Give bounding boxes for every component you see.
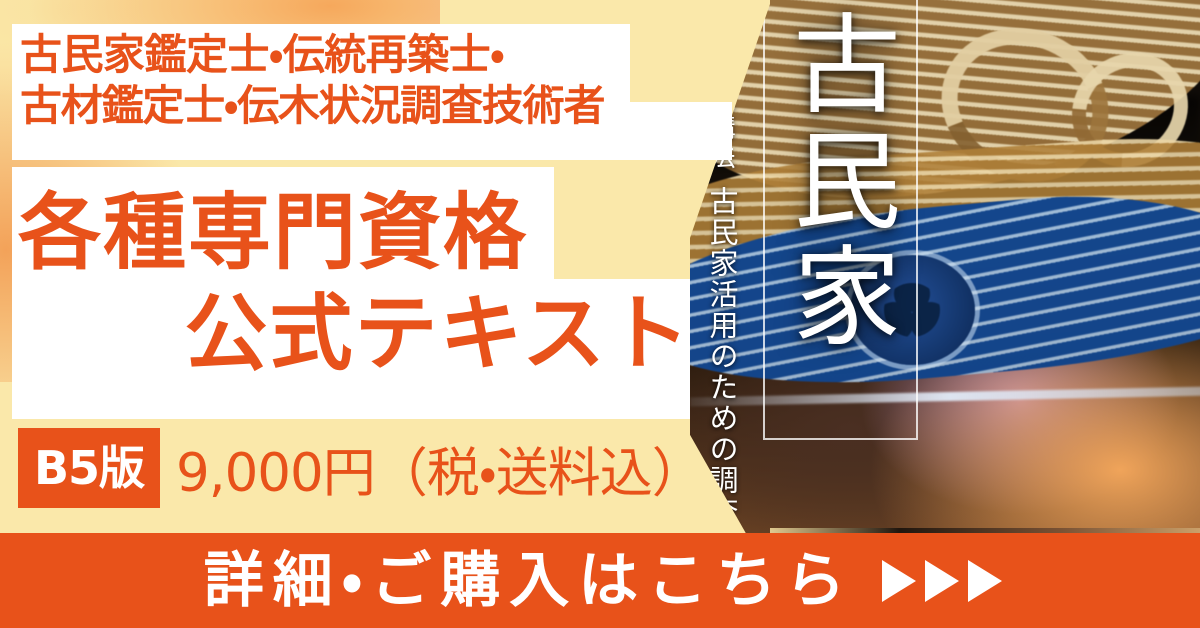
page-title: 各種専門資格 公式テキスト [18, 182, 698, 385]
headline-line-2: 公式テキスト [18, 283, 698, 384]
book-cover-photo [690, 0, 1200, 540]
format-badge: B5版 [18, 428, 160, 508]
price-text: 9,000円（税・送料込） [176, 430, 704, 508]
cta-label: 詳細・ご購入はこちら [192, 551, 854, 611]
promo-banner: 伝統構法 古民家活用のための調査と再生の 古民家 古民家鑑定士・伝統再築士・ 古… [0, 0, 1200, 628]
book-cover-title: 古民家 [790, 8, 900, 356]
cta-button[interactable]: 詳細・ご購入はこちら [0, 533, 1200, 628]
headline-line-1: 各種専門資格 [18, 184, 528, 281]
qualifications-line-2: 古材鑑定士・伝木状況調査技術者 [20, 80, 732, 131]
qualifications-text: 古民家鑑定士・伝統再築士・ 古材鑑定士・伝木状況調査技術者 [20, 29, 732, 131]
qualifications-line-1: 古民家鑑定士・伝統再築士・ [20, 29, 732, 80]
play-arrow-icon [882, 560, 916, 602]
play-arrow-icon [925, 560, 959, 602]
play-arrow-icon [968, 560, 1002, 602]
cta-arrows [882, 560, 1008, 602]
